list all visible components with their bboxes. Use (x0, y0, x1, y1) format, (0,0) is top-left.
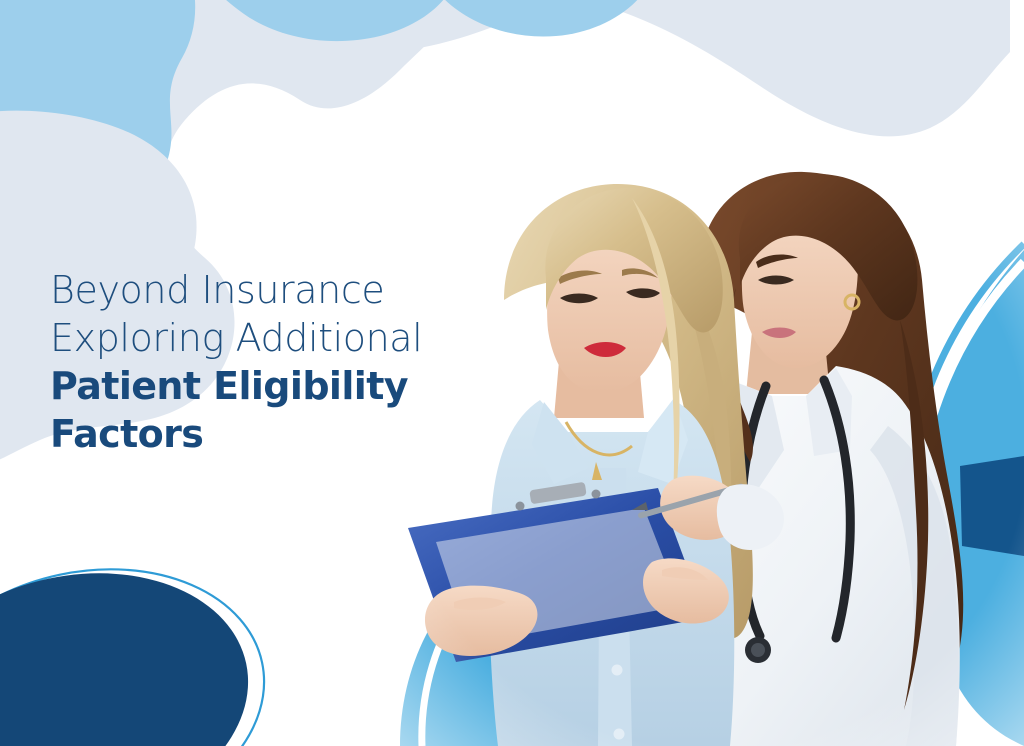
photo-edge-fade (400, 150, 1024, 746)
headline-line-3: Patient Eligibility (50, 362, 480, 410)
marketing-banner: Beyond Insurance Exploring Additional Pa… (0, 0, 1024, 746)
pale-blue-gray-blob-lobe (545, 0, 1010, 136)
photo-two-women-with-clipboard (400, 150, 1024, 746)
headline-line-2: Exploring Additional (50, 314, 480, 362)
navy-ellipse-group (0, 537, 289, 746)
headline-block: Beyond Insurance Exploring Additional Pa… (50, 266, 480, 458)
headline-line-1: Beyond Insurance (50, 266, 480, 314)
navy-ellipse-bottom-left (0, 542, 272, 746)
headline-line-4: Factors (50, 410, 480, 458)
